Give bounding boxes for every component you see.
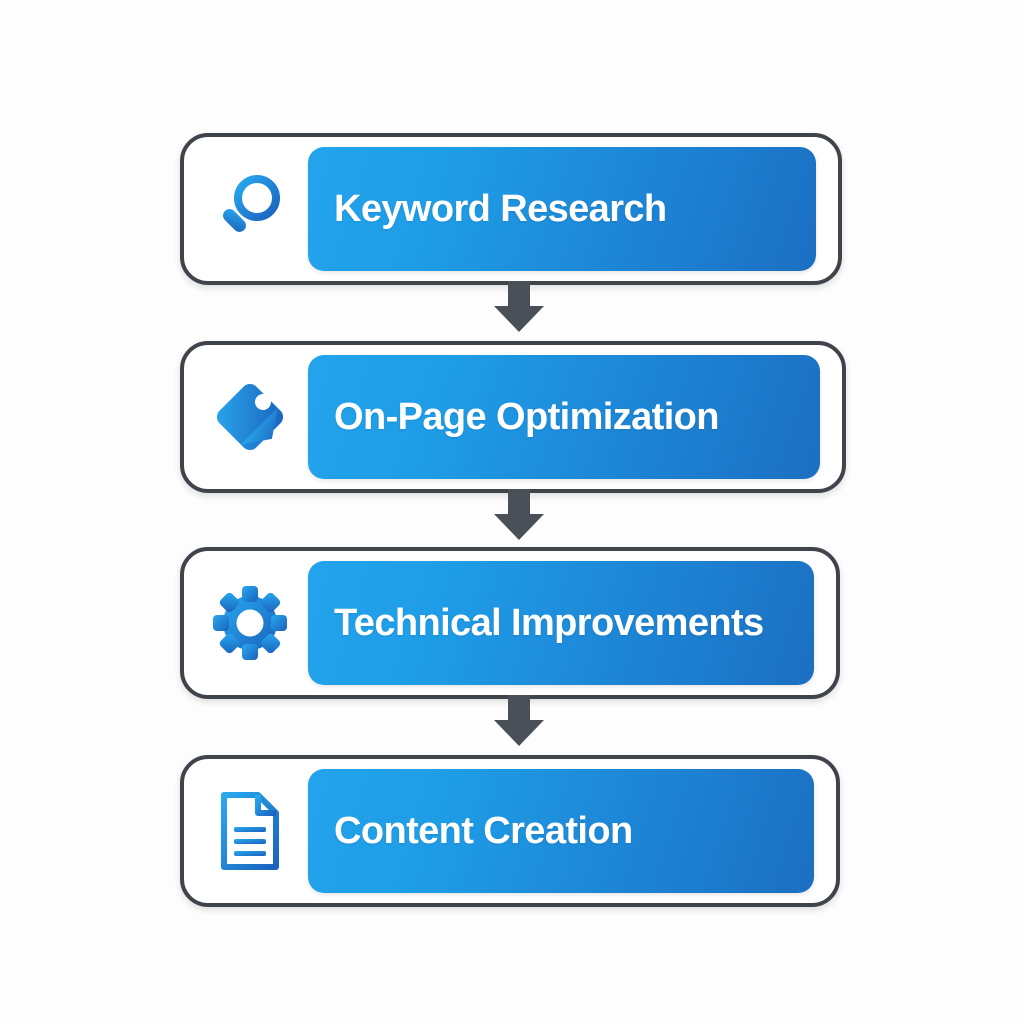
magnifier-icon <box>202 172 298 246</box>
step-label-on-page-optimization: On-Page Optimization <box>308 396 719 439</box>
flowchart-canvas: Keyword Research <box>0 0 1024 1024</box>
connector-arrow-3 <box>492 695 546 747</box>
step-label-content-creation: Content Creation <box>308 810 633 853</box>
step-card-content-creation[interactable]: Content Creation <box>180 755 840 907</box>
step-label-technical-improvements: Technical Improvements <box>308 602 764 645</box>
connector-arrow-2 <box>492 489 546 541</box>
step-card-on-page-optimization[interactable]: On-Page Optimization <box>180 341 846 493</box>
step-pill-on-page-optimization[interactable]: On-Page Optimization <box>308 355 820 479</box>
step-label-keyword-research: Keyword Research <box>308 188 667 231</box>
step-pill-keyword-research[interactable]: Keyword Research <box>308 147 816 271</box>
document-icon <box>202 791 298 871</box>
connector-arrow-1 <box>492 281 546 333</box>
step-card-technical-improvements[interactable]: Technical Improvements <box>180 547 840 699</box>
step-card-keyword-research[interactable]: Keyword Research <box>180 133 842 285</box>
gear-icon <box>202 585 298 661</box>
step-pill-content-creation[interactable]: Content Creation <box>308 769 814 893</box>
tag-icon <box>202 380 298 454</box>
step-pill-technical-improvements[interactable]: Technical Improvements <box>308 561 814 685</box>
